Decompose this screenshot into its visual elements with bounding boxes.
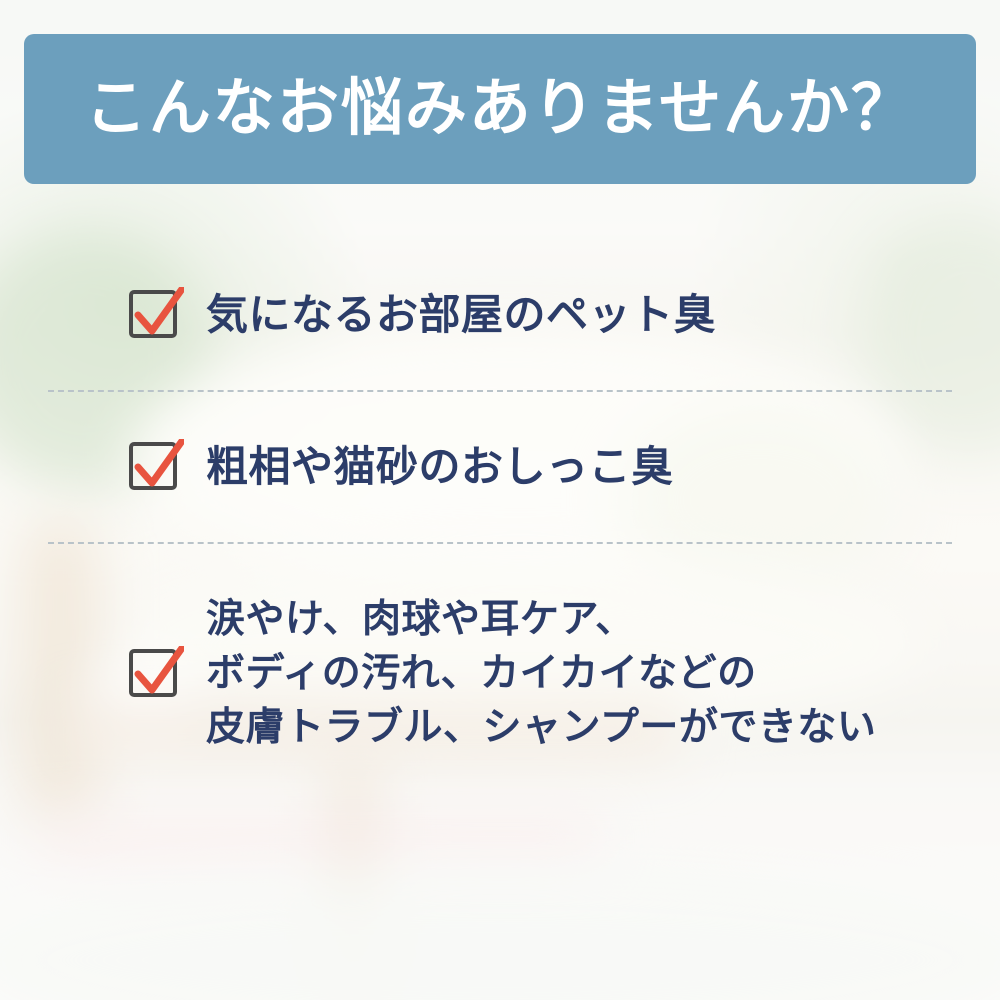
list-item-line: 気になるお部屋のペット臭 [206, 291, 716, 338]
header-banner: こんなお悩みありませんか？ [24, 34, 976, 184]
list-item: 粗相や猫砂のおしっこ臭 [0, 392, 1000, 542]
list-item: 涙やけ、肉球や耳ケア、 ボディの汚れ、カイカイなどの 皮膚トラブル、シャンプーが… [0, 544, 1000, 804]
list-item: 気になるお部屋のペット臭 [0, 240, 1000, 390]
page-title: こんなお悩みありませんか？ [85, 78, 915, 140]
list-item-line: 皮膚トラブル、シャンプーができない [206, 701, 876, 755]
list-item-line: 涙やけ、肉球や耳ケア、 [206, 593, 876, 647]
list-item-line: 粗相や猫砂のおしっこ臭 [206, 443, 674, 490]
promo-banner: こんなお悩みありませんか？ 気になるお部屋のペット臭 [0, 0, 1000, 1000]
concern-list: 気になるお部屋のペット臭 粗相や猫砂のおしっこ臭 [0, 240, 1000, 804]
list-item-label: 気になるお部屋のペット臭 [206, 291, 716, 338]
checkbox-checked-icon [128, 287, 184, 343]
list-item-line: ボディの汚れ、カイカイなどの [206, 647, 876, 701]
checkbox-checked-icon [128, 646, 184, 702]
checkbox-checked-icon [128, 439, 184, 495]
list-item-label: 涙やけ、肉球や耳ケア、 ボディの汚れ、カイカイなどの 皮膚トラブル、シャンプーが… [206, 593, 876, 754]
list-item-label: 粗相や猫砂のおしっこ臭 [206, 443, 674, 490]
